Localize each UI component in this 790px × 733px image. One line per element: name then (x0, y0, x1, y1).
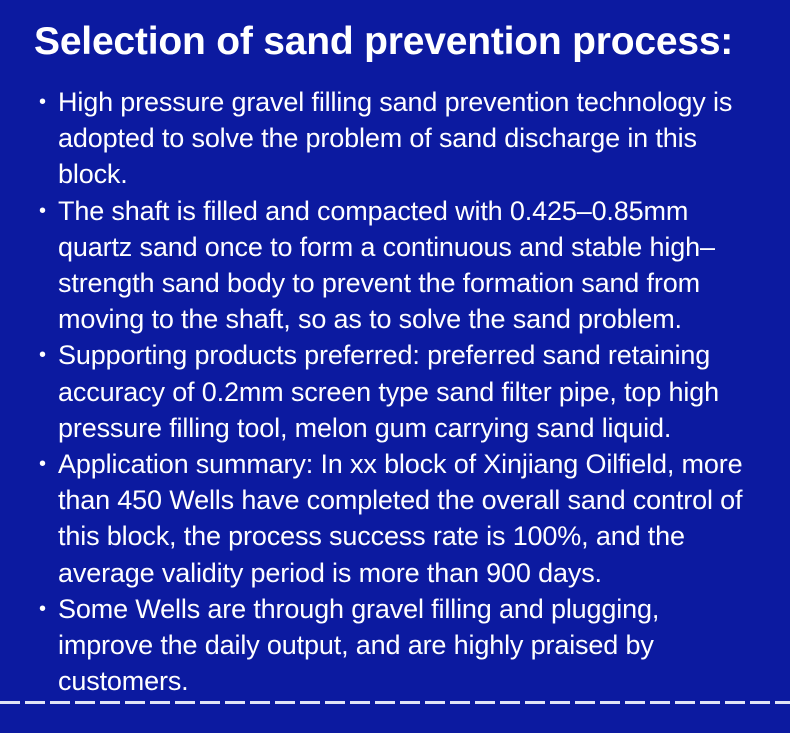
bullet-list: • High pressure gravel filling sand prev… (34, 84, 760, 699)
list-item: • High pressure gravel filling sand prev… (34, 84, 760, 193)
list-item-text: Application summary: In xx block of Xinj… (58, 446, 760, 591)
page-title: Selection of sand prevention process: (34, 19, 733, 65)
list-item-text: Supporting products preferred: preferred… (58, 337, 760, 446)
list-item: • Some Wells are through gravel filling … (34, 591, 760, 700)
bullet-dot-icon: • (39, 84, 53, 120)
list-item-text: The shaft is filled and compacted with 0… (58, 193, 760, 338)
list-item: • The shaft is filled and compacted with… (34, 193, 760, 338)
list-item: • Supporting products preferred: preferr… (34, 337, 760, 446)
list-item-text: Some Wells are through gravel filling an… (58, 591, 760, 700)
list-item-text: High pressure gravel filling sand preven… (58, 84, 760, 193)
slide-root: Selection of sand prevention process: • … (0, 0, 790, 733)
bullet-dot-icon: • (39, 337, 53, 373)
bullet-dot-icon: • (39, 446, 53, 482)
bullet-dot-icon: • (39, 591, 53, 627)
list-item: • Application summary: In xx block of Xi… (34, 446, 760, 591)
dashed-divider (0, 701, 790, 704)
bullet-dot-icon: • (39, 193, 53, 229)
